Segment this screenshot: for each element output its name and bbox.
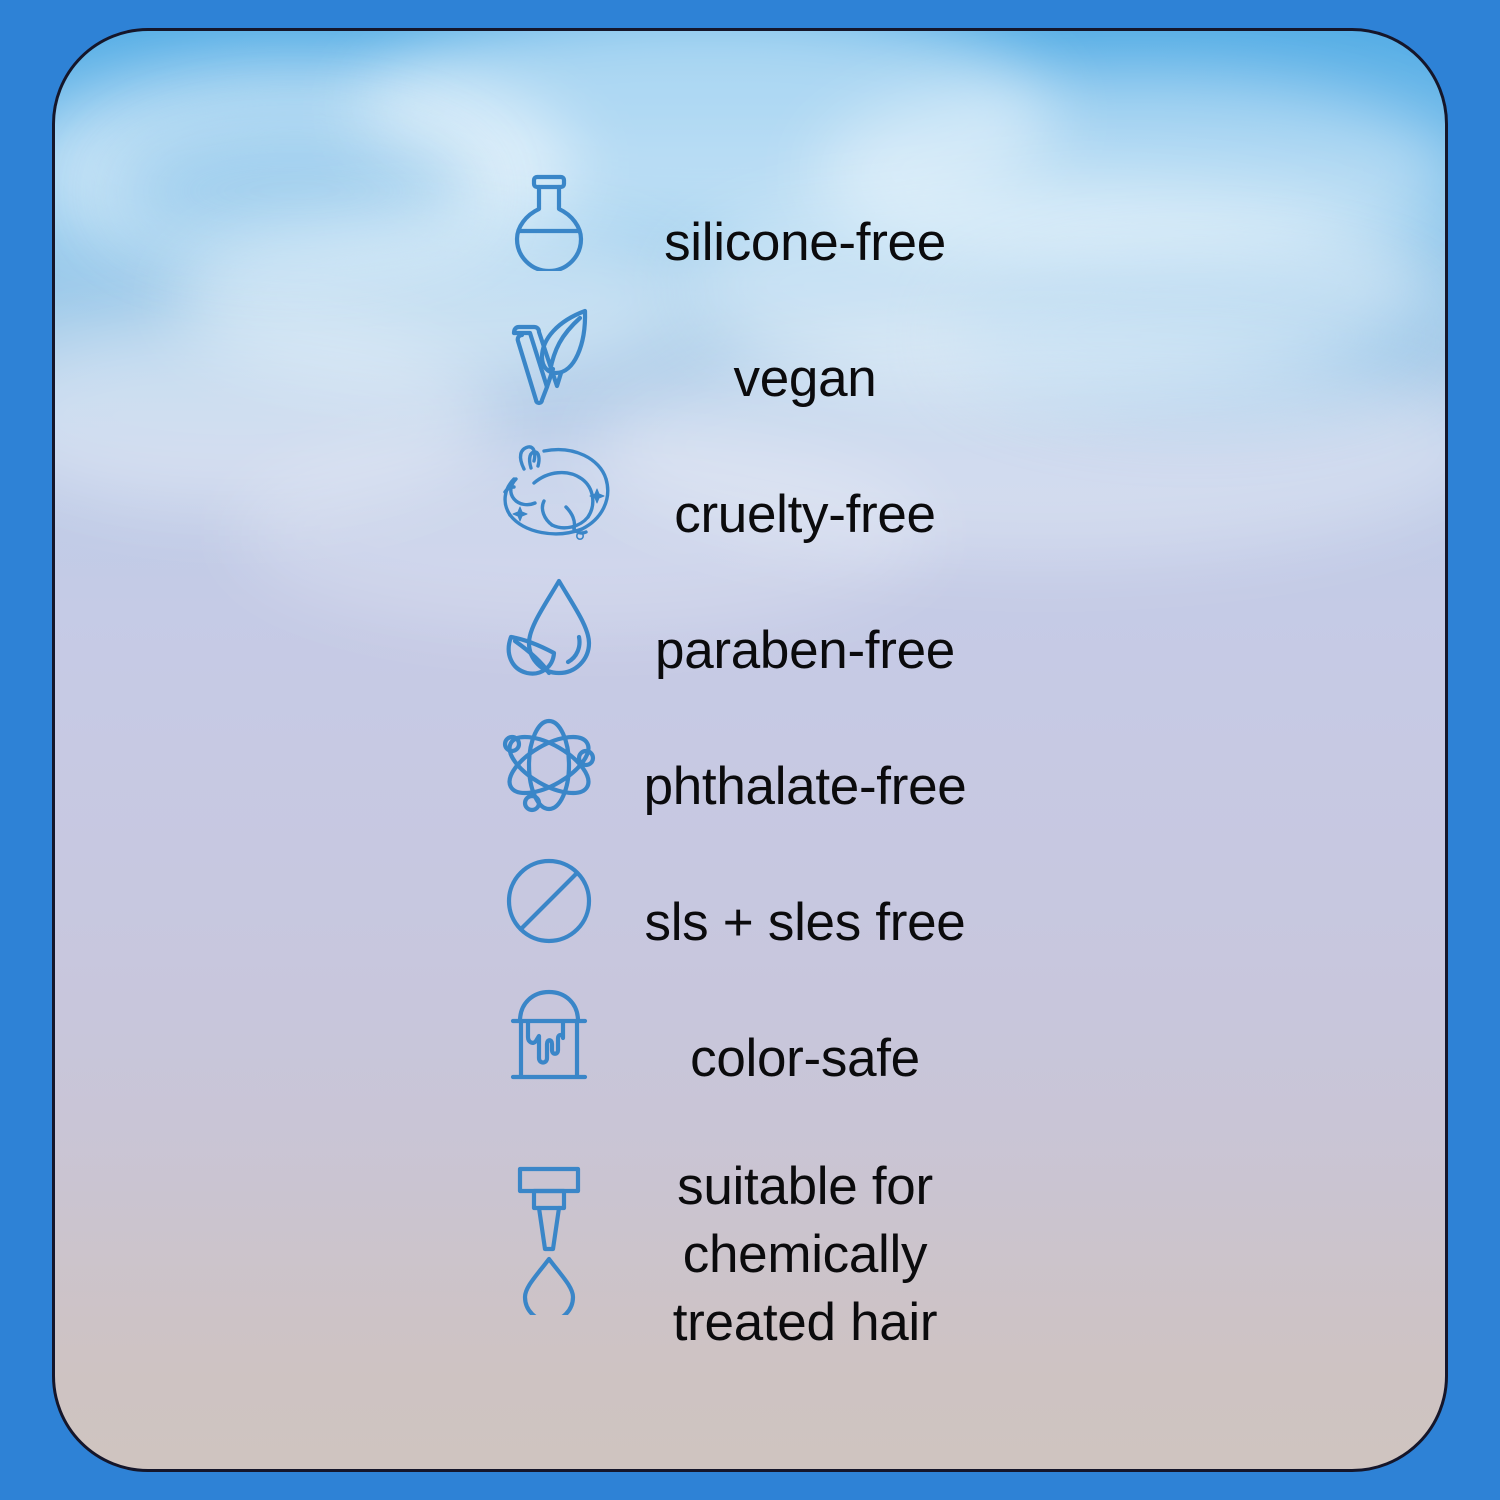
leaping-bunny-icon — [491, 435, 621, 551]
droplet-leaf-icon — [491, 571, 607, 687]
claim-label: phthalate-free — [644, 753, 967, 821]
vegan-leaf-icon — [491, 299, 607, 415]
claim-label: cruelty-free — [674, 481, 935, 549]
dropper-drop-icon — [491, 1159, 607, 1319]
paint-bucket-icon — [491, 979, 607, 1095]
atom-icon — [491, 707, 607, 823]
claim-label: vegan — [734, 345, 877, 413]
claim-label: silicone-free — [664, 209, 946, 277]
claim-label: suitable for chemically treated hair — [673, 1153, 938, 1356]
flask-icon — [491, 163, 607, 279]
no-entry-icon — [491, 843, 607, 959]
claims-card: silicone-free vegan — [52, 28, 1448, 1472]
claim-label: sls + sles free — [645, 889, 966, 957]
claims-list: silicone-free vegan — [55, 31, 1445, 1469]
claim-label: color-safe — [690, 1025, 920, 1093]
product-claims-graphic: silicone-free vegan — [0, 0, 1500, 1500]
claim-label: paraben-free — [655, 617, 955, 685]
